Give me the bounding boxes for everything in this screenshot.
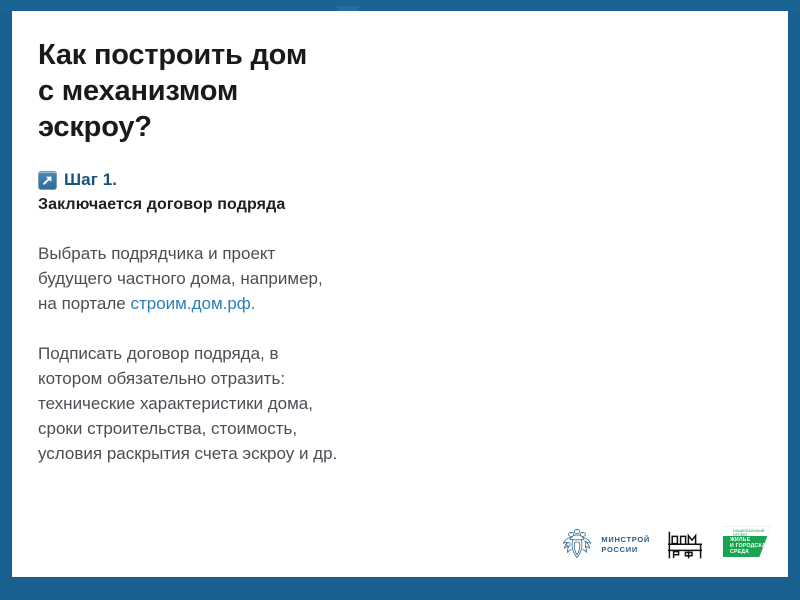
slide-frame: Как построить дом с механизмом эскроу? Ш…	[0, 0, 800, 600]
logo-national-project: НАЦИОНАЛЬНЫЙ ПРОЕКТ ЖИЛЬЕ И ГОРОДСКАЯ СР…	[720, 524, 774, 565]
frame-top-stripe	[0, 0, 800, 11]
step-block: Шаг 1. Заключается договор подряда	[38, 170, 762, 214]
page-title: Как построить дом с механизмом эскроу?	[38, 37, 762, 145]
logo-dom-rf	[666, 528, 704, 562]
paragraph-select-contractor: Выбрать подрядчика и проект будущего час…	[38, 241, 762, 316]
logo-minstroy-text: МИНСТРОЙ РОССИИ	[601, 535, 650, 554]
step-subtitle: Заключается договор подряда	[38, 196, 762, 214]
step-label: Шаг 1.	[64, 170, 117, 190]
logo-national-project-caption: НАЦИОНАЛЬНЫЙ ПРОЕКТ	[733, 529, 774, 537]
logo-minstroy-rossii: МИНСТРОЙ РОССИИ	[560, 528, 650, 562]
stroim-dom-rf-link[interactable]: строим.дом.рф.	[130, 294, 255, 313]
footer-logos: МИНСТРОЙ РОССИИ	[560, 524, 774, 565]
russian-coat-of-arms-icon	[560, 528, 594, 562]
logo-national-project-name: ЖИЛЬЕ И ГОРОДСКАЯ СРЕДА	[730, 537, 770, 555]
arrow-up-right-icon	[38, 171, 57, 190]
paragraph-sign-contract: Подписать договор подряда, в котором обя…	[38, 341, 762, 466]
step-header-row: Шаг 1.	[38, 170, 762, 190]
content-card: Как построить дом с механизмом эскроу? Ш…	[12, 11, 788, 577]
